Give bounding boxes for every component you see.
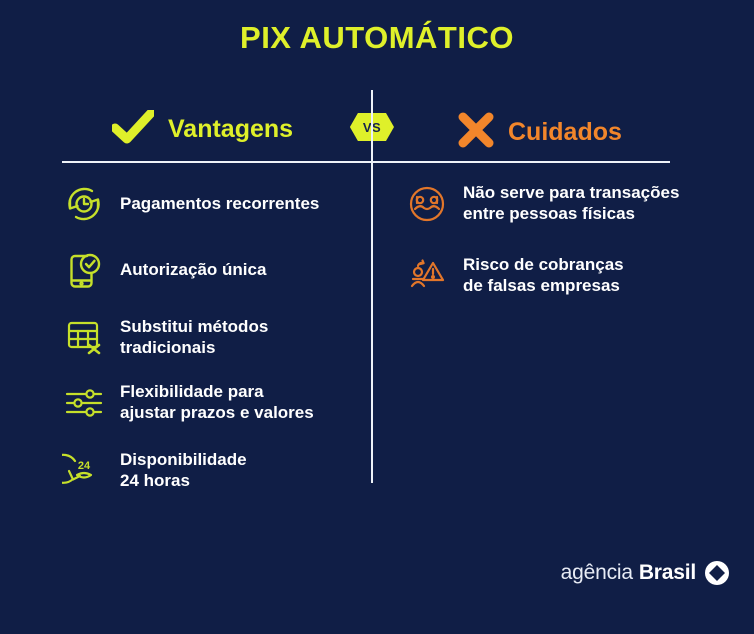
list-item: Flexibilidade para ajustar prazos e valo… bbox=[62, 381, 362, 425]
person-warning-icon bbox=[405, 252, 449, 296]
phone-check-icon bbox=[62, 248, 106, 292]
clock-24h-icon: 24 bbox=[62, 447, 106, 491]
recurring-clock-icon bbox=[62, 182, 106, 226]
list-item-label: Substitui métodos tradicionais bbox=[120, 314, 268, 359]
page-title: PIX AUTOMÁTICO bbox=[0, 20, 754, 56]
list-item-label: Não serve para transações entre pessoas … bbox=[463, 182, 679, 225]
horizontal-divider bbox=[62, 161, 670, 163]
vertical-divider bbox=[371, 90, 373, 483]
list-item: 24 Disponibilidade 24 horas bbox=[62, 447, 362, 492]
list-item-label: Pagamentos recorrentes bbox=[120, 182, 319, 214]
list-item-label: Autorização única bbox=[120, 248, 266, 280]
infographic-canvas: PIX AUTOMÁTICO Vantagens Cuidados VS bbox=[0, 0, 754, 634]
brasil-globe-icon bbox=[704, 560, 730, 586]
two-people-circle-icon bbox=[405, 182, 449, 226]
table-x-icon bbox=[62, 314, 106, 358]
logo-text-agencia: agência bbox=[561, 561, 633, 585]
list-item: Risco de cobranças de falsas empresas bbox=[405, 252, 735, 297]
check-icon bbox=[112, 110, 154, 149]
list-item: Pagamentos recorrentes bbox=[62, 182, 362, 226]
agencia-brasil-logo: agência Brasil bbox=[561, 560, 730, 586]
list-item: Substitui métodos tradicionais bbox=[62, 314, 362, 359]
svg-text:24: 24 bbox=[78, 460, 91, 472]
list-item: Autorização única bbox=[62, 248, 362, 292]
cautions-list: Não serve para transações entre pessoas … bbox=[405, 182, 735, 323]
advantages-list: Pagamentos recorrentes Autorização única bbox=[62, 182, 362, 513]
list-item-label: Flexibilidade para ajustar prazos e valo… bbox=[120, 381, 314, 424]
list-item-label: Disponibilidade 24 horas bbox=[120, 447, 247, 492]
cross-x-icon bbox=[458, 112, 494, 153]
logo-text-brasil: Brasil bbox=[639, 561, 696, 585]
column-header-label-left: Vantagens bbox=[168, 115, 293, 144]
list-item-label: Risco de cobranças de falsas empresas bbox=[463, 252, 624, 297]
column-header-vantagens: Vantagens bbox=[112, 110, 293, 149]
sliders-icon bbox=[62, 381, 106, 425]
list-item: Não serve para transações entre pessoas … bbox=[405, 182, 735, 226]
column-header-label-right: Cuidados bbox=[508, 118, 622, 147]
column-header-cuidados: Cuidados bbox=[458, 112, 622, 153]
